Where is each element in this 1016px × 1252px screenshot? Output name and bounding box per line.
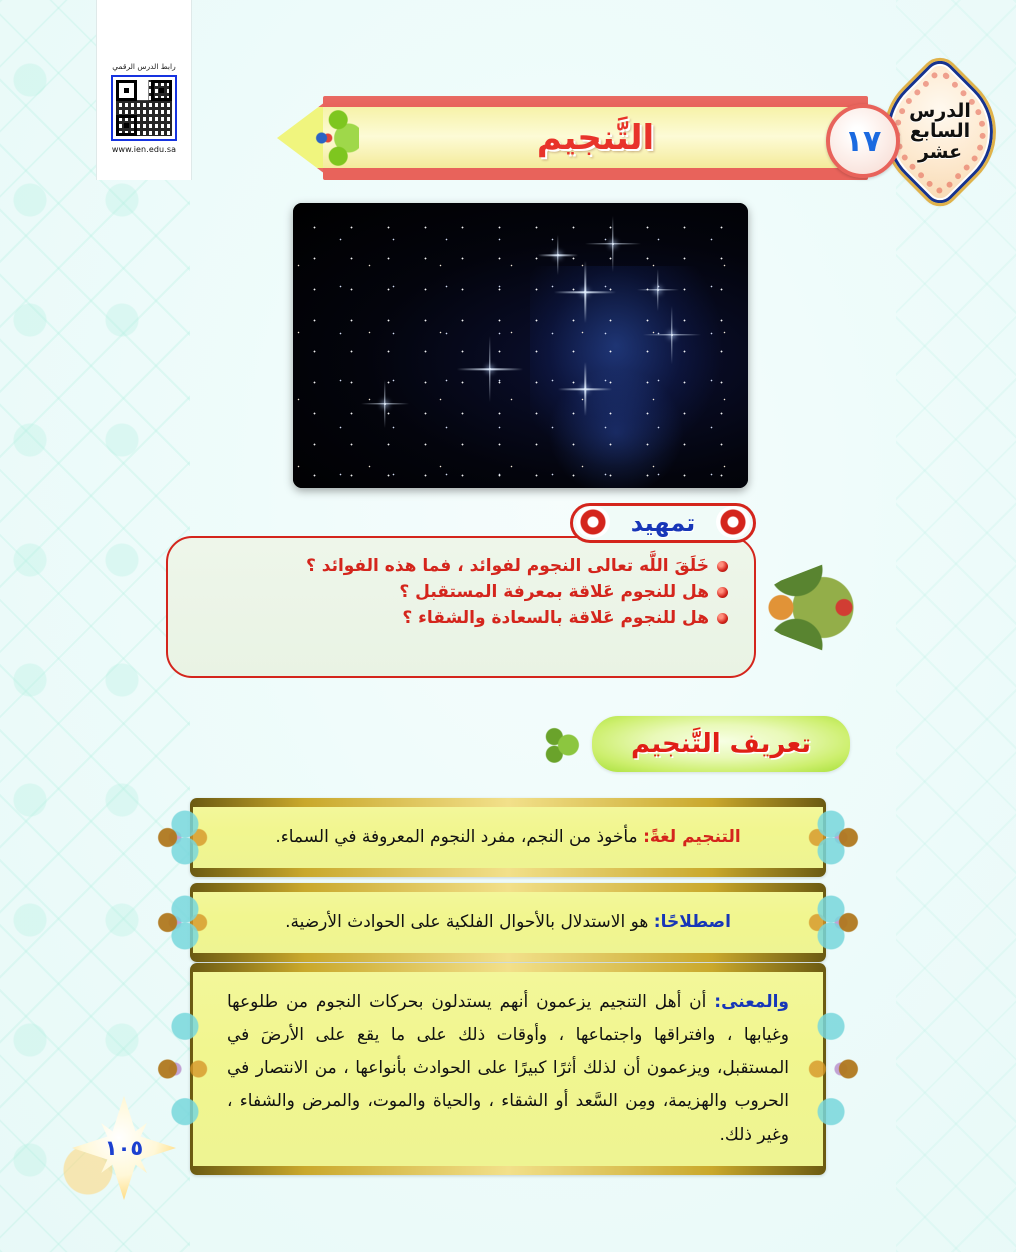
definition-box-3: والمعنى: أن أهل التنجيم يزعمون أنهم يستد… — [190, 963, 826, 1175]
definition-text-1: مأخوذ من النجم، مفرد النجوم المعروفة في … — [275, 827, 637, 847]
definition-line: اصطلاحًا: هو الاستدلال بالأحوال الفلكية … — [227, 906, 789, 939]
page-title: التَّنجيم — [323, 96, 868, 180]
section-heading: تعريف التَّنجيم — [631, 729, 811, 759]
tamheed-heading: تمهيد — [570, 503, 756, 543]
list-item: هل للنجوم عَلاقة بالسعادة والشقاء ؟ — [194, 608, 728, 628]
background-pattern-left — [0, 0, 190, 1252]
qr-code-icon[interactable] — [111, 75, 177, 141]
star-cluster-photo — [293, 203, 748, 488]
list-item: هل للنجوم عَلاقة بمعرفة المستقبل ؟ — [194, 582, 728, 602]
definition-label-1: التنجيم لغةً: — [643, 827, 741, 847]
section-heading-plate: تعريف التَّنجيم — [592, 716, 850, 772]
tamheed-question-box: خَلَقَ اللَّه تعالى النجوم لفوائد ، فما … — [166, 536, 756, 678]
bullet-icon — [717, 561, 728, 572]
page-number: ١٠٥ — [72, 1096, 176, 1200]
lesson-word-line1: الدرس — [909, 102, 971, 121]
bullet-icon — [717, 587, 728, 598]
definition-line: والمعنى: أن أهل التنجيم يزعمون أنهم يستد… — [227, 986, 789, 1152]
definition-text-3: أن أهل التنجيم يزعمون أنهم يستدلون بحركا… — [227, 992, 789, 1145]
definition-text-2: هو الاستدلال بالأحوال الفلكية على الحواد… — [285, 912, 648, 932]
definition-line: التنجيم لغةً: مأخوذ من النجم، مفرد النجو… — [227, 821, 789, 854]
definition-label-2: اصطلاحًا: — [654, 912, 731, 932]
lesson-word-line2: السابع — [910, 122, 970, 141]
bullet-icon — [717, 613, 728, 624]
definition-box-1: التنجيم لغةً: مأخوذ من النجم، مفرد النجو… — [190, 798, 826, 877]
qr-label: رابط الدرس الرقمي — [112, 62, 175, 71]
qr-url-text: www.ien.edu.sa — [112, 145, 176, 154]
tamheed-heading-plate: تمهيد — [570, 503, 756, 543]
definition-box-2: اصطلاحًا: هو الاستدلال بالأحوال الفلكية … — [190, 883, 826, 962]
page-number-badge: ١٠٥ — [72, 1096, 176, 1200]
digital-lesson-qr-panel[interactable]: رابط الدرس الرقمي www.ien.edu.sa — [96, 0, 192, 180]
lesson-title-banner: التَّنجيم — [323, 96, 868, 180]
lesson-number: ١٧ — [845, 124, 882, 159]
tamheed-question-1: خَلَقَ اللَّه تعالى النجوم لفوائد ، فما … — [306, 556, 709, 576]
tamheed-question-2: هل للنجوم عَلاقة بمعرفة المستقبل ؟ — [399, 582, 709, 602]
list-item: خَلَقَ اللَّه تعالى النجوم لفوائد ، فما … — [194, 556, 728, 576]
lesson-number-circle: ١٧ — [826, 104, 900, 178]
section-heading-swirl-icon — [542, 724, 586, 766]
tamheed-question-3: هل للنجوم عَلاقة بالسعادة والشقاء ؟ — [402, 608, 709, 628]
lesson-word-line3: عشر — [918, 143, 962, 162]
definition-label-3: والمعنى: — [714, 992, 789, 1012]
